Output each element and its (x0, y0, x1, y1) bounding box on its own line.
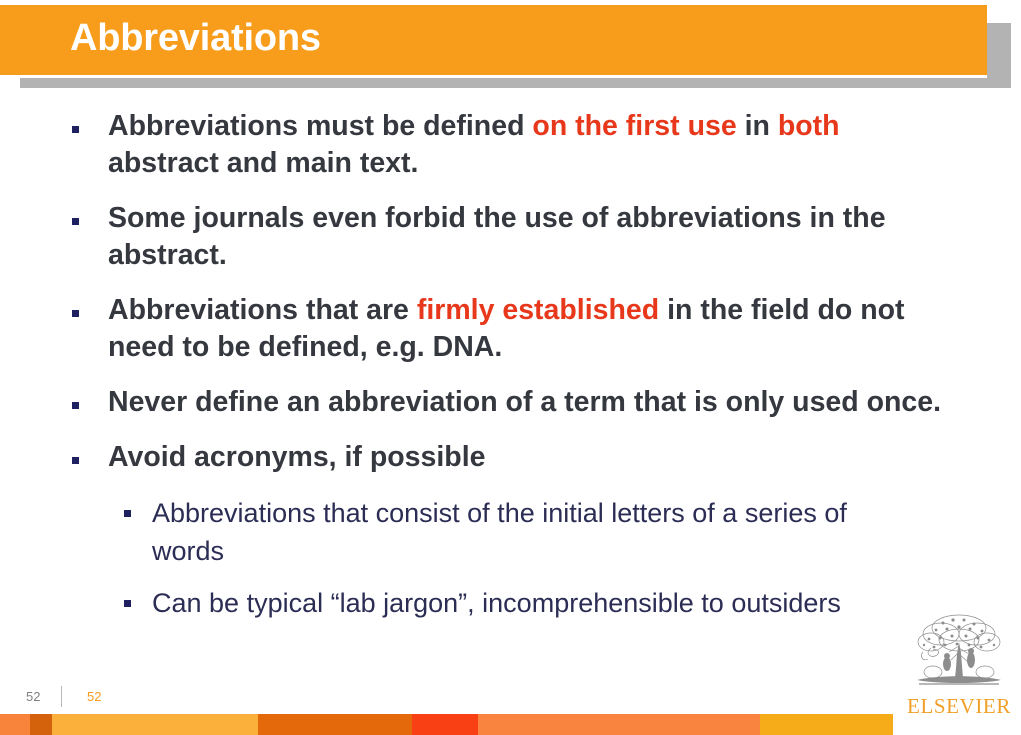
bullet-text: Never define an abbreviation of a term t… (108, 384, 951, 421)
header-shadow-right (987, 23, 1011, 78)
bullet-list: Abbreviations must be defined on the fir… (0, 108, 1021, 636)
page-number-left: 52 (26, 689, 40, 704)
color-bar-segment (52, 714, 258, 735)
plain-text: Can be typical “lab jargon”, incomprehen… (152, 588, 841, 618)
header-shadow-bottom (20, 78, 1011, 88)
plain-text: Never define an abbreviation of a term t… (108, 386, 941, 418)
elsevier-wordmark: ELSEVIER (903, 694, 1015, 719)
bullet-item: Abbreviations must be defined on the fir… (0, 108, 1021, 182)
bullet-text: Some journals even forbid the use of abb… (108, 200, 951, 274)
bullet-item: Never define an abbreviation of a term t… (0, 384, 1021, 421)
color-bar-segment (258, 714, 412, 735)
plain-text: abstract and main text. (108, 147, 418, 179)
footer-color-bar (0, 714, 893, 735)
bullet-item: Some journals even forbid the use of abb… (0, 200, 1021, 274)
slide: Abbreviations Abbreviations must be defi… (0, 0, 1021, 735)
elsevier-logo: ELSEVIER (903, 608, 1015, 720)
bullet-marker-icon (124, 510, 131, 517)
color-bar-segment (0, 714, 30, 735)
color-bar-segment (760, 714, 893, 735)
bullet-text: Abbreviations that consist of the initia… (152, 494, 921, 570)
page-number-divider (61, 686, 62, 707)
slide-title: Abbreviations (70, 17, 321, 60)
bullet-text: Avoid acronyms, if possible (108, 439, 951, 476)
plain-text: Avoid acronyms, if possible (108, 441, 485, 473)
bullet-marker-icon (72, 457, 79, 464)
bullet-text: Can be typical “lab jargon”, incomprehen… (152, 584, 921, 622)
bullet-item: Abbreviations that consist of the initia… (0, 494, 1021, 570)
color-bar-segment (478, 714, 760, 735)
bullet-item: Abbreviations that are firmly establishe… (0, 292, 1021, 366)
plain-text: in (737, 110, 778, 142)
highlighted-text: firmly established (417, 294, 659, 326)
bullet-item: Avoid acronyms, if possible (0, 439, 1021, 476)
highlighted-text: both (778, 110, 840, 142)
bullet-marker-icon (72, 126, 79, 133)
bullet-marker-icon (72, 218, 79, 225)
bullet-text: Abbreviations that are firmly establishe… (108, 292, 951, 366)
page-number-right: 52 (87, 689, 101, 704)
bullet-marker-icon (124, 600, 131, 607)
color-bar-segment (30, 714, 52, 735)
highlighted-text: on the first use (532, 110, 736, 142)
plain-text: Some journals even forbid the use of abb… (108, 202, 886, 271)
color-bar-segment (412, 714, 478, 735)
bullet-marker-icon (72, 402, 79, 409)
plain-text: Abbreviations that consist of the initia… (152, 498, 847, 566)
elsevier-tree-icon (909, 608, 1009, 694)
bullet-marker-icon (72, 310, 79, 317)
plain-text: Abbreviations must be defined (108, 110, 532, 142)
plain-text: Abbreviations that are (108, 294, 417, 326)
bullet-text: Abbreviations must be defined on the fir… (108, 108, 951, 182)
bullet-item: Can be typical “lab jargon”, incomprehen… (0, 584, 1021, 622)
